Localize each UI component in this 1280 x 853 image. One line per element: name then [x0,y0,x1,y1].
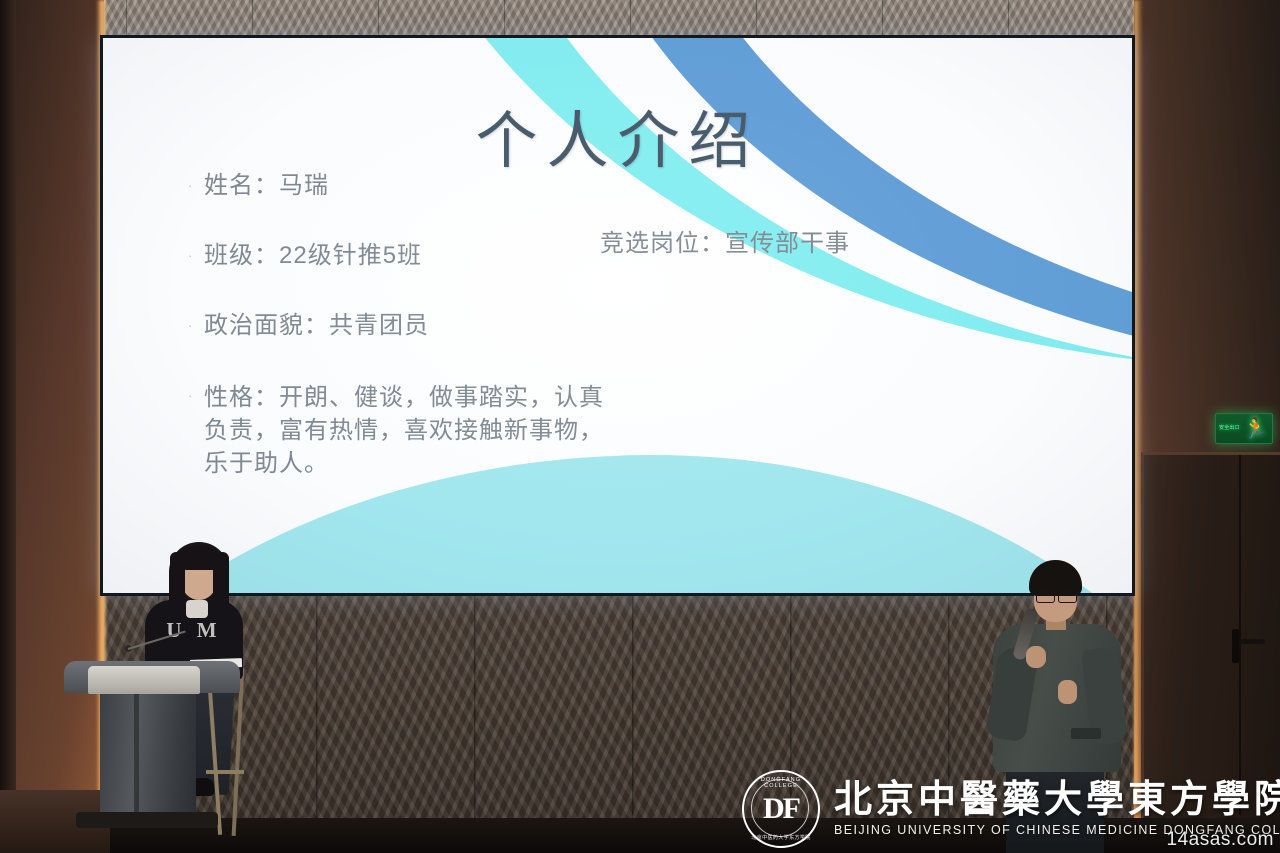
glasses-icon [1036,590,1055,603]
watermark: 14asas.com [1167,829,1274,851]
university-seal-icon: DONGFANG COLLEGE DF 北京中医药大学东方学院 [742,770,820,848]
lectern-tray [88,666,200,694]
seal-arc-bottom-text: 北京中医药大学东方学院 [744,834,818,841]
slide-position-applied: 竞选岗位：宣传部干事 [600,223,850,258]
door-center-seam [1239,455,1241,815]
slide-title: 个人介绍 [103,90,1132,180]
door-lock-icon[interactable] [1232,629,1239,663]
hoodie-logo-text: U M [159,618,229,643]
list-item: · 姓名：马瑞 [188,171,658,201]
bullet-marker-icon: · [188,311,204,341]
stool-footrest [206,770,244,774]
left-wall-gap [0,0,16,853]
screenshot-stage: 安全出口 🏃 个人介绍 · 姓名：马瑞 · 班级：22级针推5班 · 政 [0,0,1280,853]
bullet-text-name: 姓名：马瑞 [204,171,329,201]
emergency-exit-sign: 安全出口 🏃 [1215,413,1273,444]
upper-stone-wall [0,0,1280,40]
bullet-text-personality: 性格：开朗、健谈，做事踏实，认真负责，富有热情，喜欢接触新事物，乐于助人。 [204,381,604,480]
bullet-marker-icon: · [188,381,204,411]
presenter-collar [186,600,208,618]
lectern-base [76,812,218,828]
projection-screen: 个人介绍 · 姓名：马瑞 · 班级：22级针推5班 · 政治面貌：共青团员 · … [103,38,1132,593]
slide-bullet-list: · 姓名：马瑞 · 班级：22级针推5班 · 政治面貌：共青团员 · 性格：开朗… [188,171,658,480]
decor-wave-white-top-inner [632,38,1132,348]
door-handle-icon[interactable] [1239,639,1265,644]
bullet-marker-icon: · [188,241,204,271]
glasses-icon [1058,590,1077,603]
exit-sign-label: 安全出口 [1216,426,1243,431]
lectern-seam [134,690,139,822]
list-item: · 政治面貌：共青团员 [188,311,658,341]
list-item: · 性格：开朗、健谈，做事踏实，认真负责，富有热情，喜欢接触新事物，乐于助人。 [188,381,658,480]
speaker-gesturing-hand [1058,680,1077,704]
running-man-icon: 🏃 [1243,419,1268,439]
exit-door[interactable] [1141,452,1280,821]
university-name-chinese: 北京中醫藥大學東方學院 [834,781,1280,821]
speaker-pocket-patch [1071,728,1101,739]
bullet-text-class: 班级：22级针推5班 [204,241,422,271]
decor-wave-white-bottom [103,475,1132,593]
bullet-text-political-status: 政治面貌：共青团员 [204,311,429,341]
speaker-hand-holding-mic [1026,646,1046,668]
glasses-bridge [1053,594,1058,596]
decor-wave-blue-bottom [103,491,1132,593]
lectern-body [100,690,196,822]
bullet-marker-icon: · [188,171,204,201]
list-item: · 班级：22级针推5班 [188,241,658,271]
